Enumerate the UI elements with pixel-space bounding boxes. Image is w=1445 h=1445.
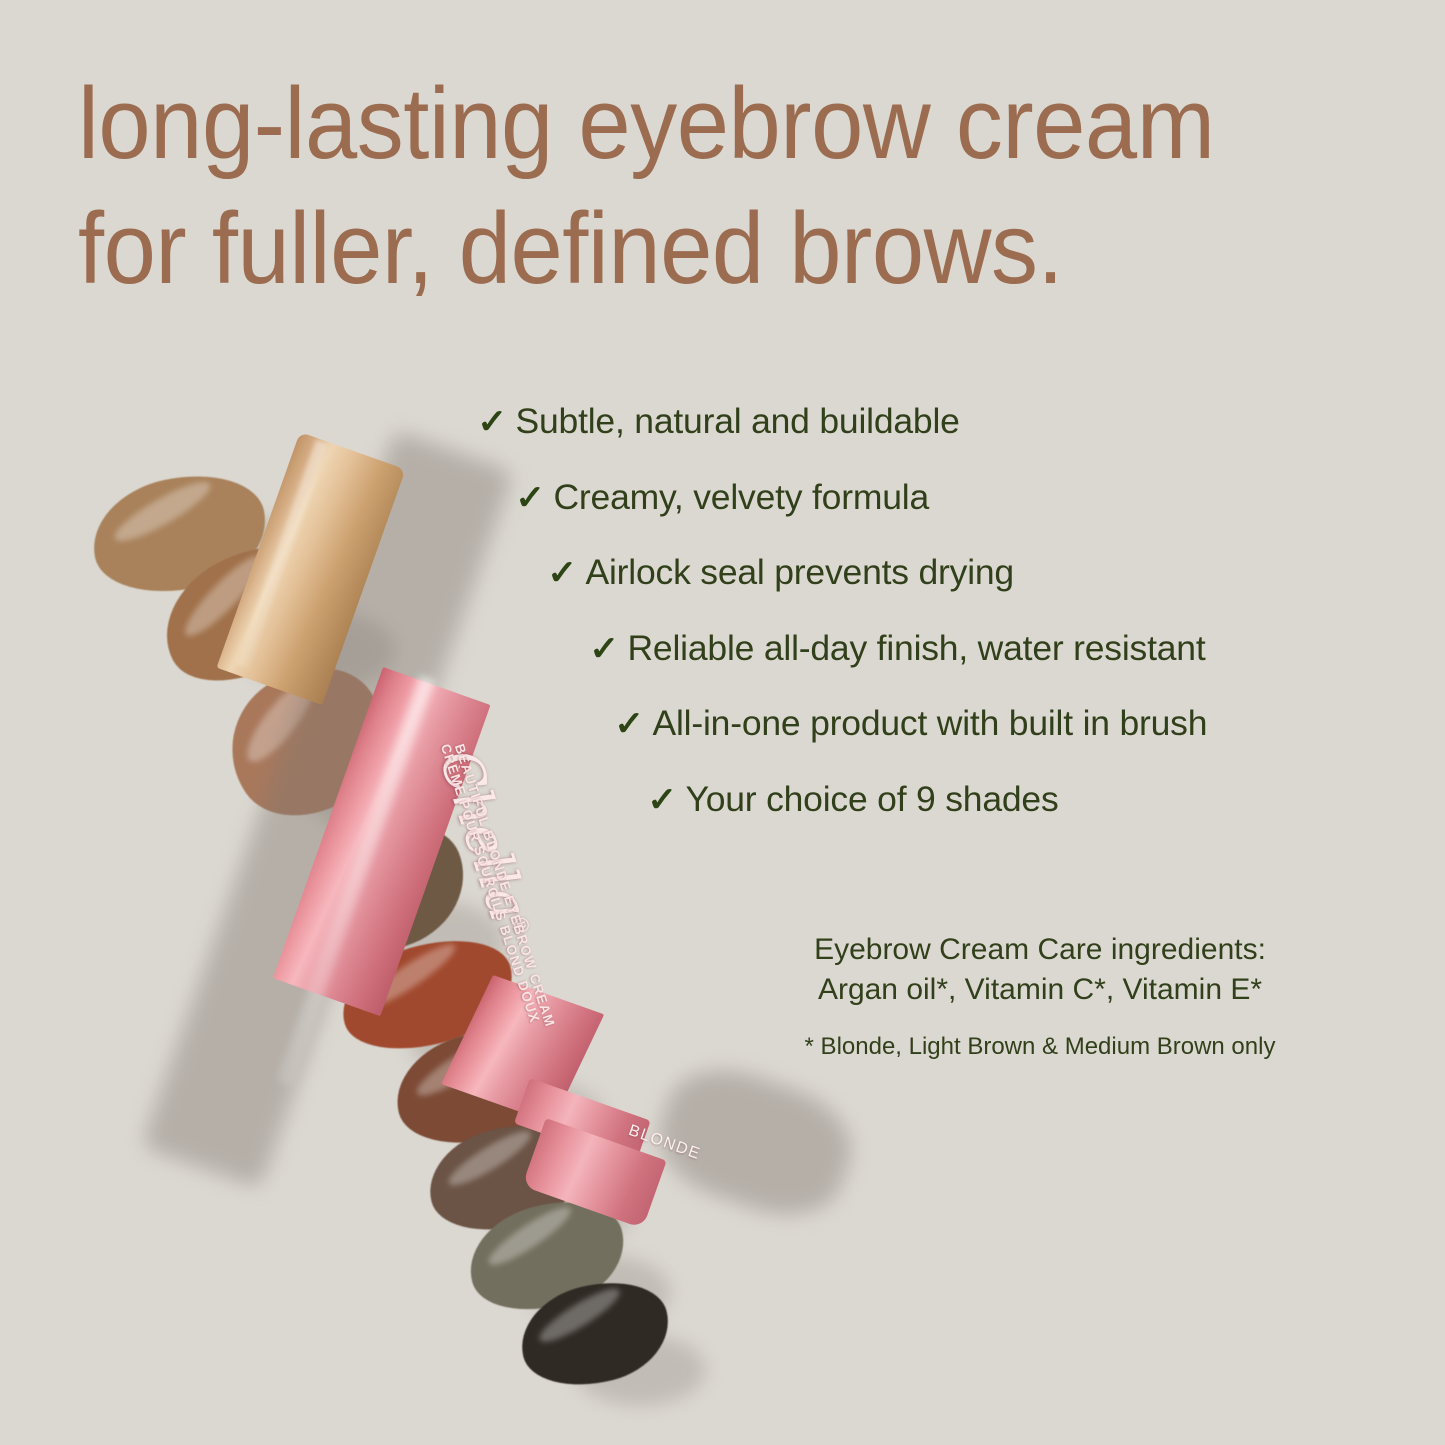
swatch-shadow xyxy=(185,520,335,600)
swatch-shadow xyxy=(300,740,450,830)
tube-highlight xyxy=(276,675,435,1086)
list-item: ✓ Airlock seal prevents drying xyxy=(548,555,1370,591)
shade-swatch-black-brown xyxy=(510,1268,679,1399)
feature-text: Subtle, natural and buildable xyxy=(516,404,960,440)
shade-name-label: BLONDE xyxy=(626,1122,703,1164)
list-item: ✓ Creamy, velvety formula xyxy=(516,480,1370,516)
feature-list: ✓ Subtle, natural and buildable ✓ Creamy… xyxy=(470,404,1370,817)
tube-neck xyxy=(441,975,604,1123)
feature-text: Airlock seal prevents drying xyxy=(586,555,1014,591)
ingredients-list: Argan oil*, Vitamin C*, Vitamin E* xyxy=(760,970,1320,1010)
page-title: long-lasting eyebrow cream for fuller, d… xyxy=(78,62,1315,312)
check-icon: ✓ xyxy=(589,632,619,666)
tube-body xyxy=(273,667,491,1016)
shade-swatch-medium-brown xyxy=(285,802,484,977)
swatch-shadow xyxy=(410,1000,560,1080)
shade-swatch-taupe xyxy=(457,1185,637,1327)
tube-base-collar xyxy=(514,1078,651,1166)
feature-text: All-in-one product with built in brush xyxy=(653,706,1208,742)
feature-text: Creamy, velvety formula xyxy=(554,480,929,516)
product-shadow xyxy=(141,430,513,1188)
shade-swatch-deep-brown xyxy=(418,1111,593,1246)
feature-text: Your choice of 9 shades xyxy=(686,782,1059,818)
cap-highlight xyxy=(237,440,329,669)
check-icon: ✓ xyxy=(647,783,677,817)
list-item: ✓ All-in-one product with built in brush xyxy=(615,706,1370,742)
swatch-shadow xyxy=(455,1080,605,1160)
swatch-shadow xyxy=(245,610,395,690)
shade-swatch-auburn xyxy=(330,923,526,1067)
list-item: ✓ Your choice of 9 shades xyxy=(648,782,1370,818)
headline-line-1: long-lasting eyebrow cream xyxy=(78,62,1315,187)
swatch-shadow xyxy=(575,1335,705,1405)
list-item: ✓ Reliable all-day finish, water resista… xyxy=(590,631,1370,667)
ingredients-block: Eyebrow Cream Care ingredients: Argan oi… xyxy=(760,930,1320,1062)
ingredients-heading: Eyebrow Cream Care ingredients: xyxy=(760,930,1320,970)
swatch-shadow xyxy=(530,1255,670,1330)
shade-swatch-dark-brown xyxy=(384,1014,575,1160)
product-base-shadow xyxy=(645,1052,865,1232)
tube-cap xyxy=(217,432,406,705)
check-icon: ✓ xyxy=(614,707,644,741)
shade-swatch-blonde xyxy=(82,461,276,607)
registered-mark: ® xyxy=(507,912,536,938)
headline-line-2: for fuller, defined brows. xyxy=(78,187,1315,312)
check-icon: ✓ xyxy=(477,405,507,439)
swatch-shadow xyxy=(490,1175,630,1250)
shade-swatch-warm-brown xyxy=(203,639,414,845)
shade-swatch-light-brown xyxy=(143,521,353,707)
check-icon: ✓ xyxy=(547,556,577,590)
swatch-shadow xyxy=(355,900,505,985)
list-item: ✓ Subtle, natural and buildable xyxy=(478,404,1370,440)
product-marketing-image: long-lasting eyebrow cream for fuller, d… xyxy=(0,0,1445,1445)
feature-text: Reliable all-day finish, water resistant xyxy=(628,631,1206,667)
tube-base-cap xyxy=(522,1118,667,1229)
check-icon: ✓ xyxy=(515,481,545,515)
ingredients-footnote: * Blonde, Light Brown & Medium Brown onl… xyxy=(760,1031,1320,1062)
